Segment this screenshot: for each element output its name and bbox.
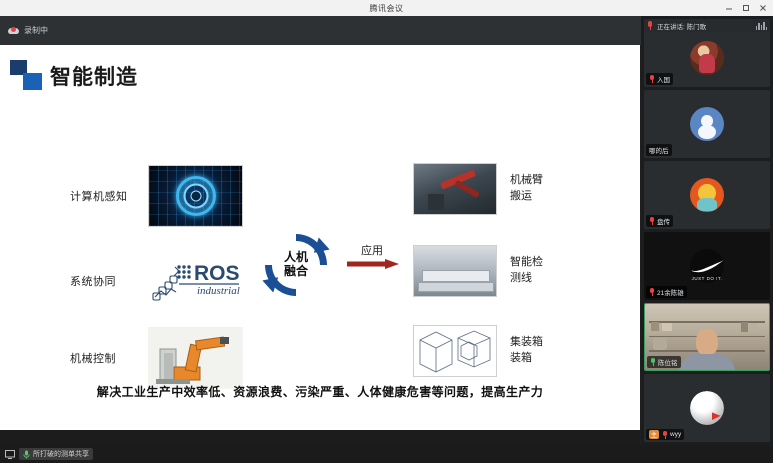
- monitor-icon[interactable]: [4, 449, 15, 460]
- right-row-3: 集装箱 装箱: [413, 325, 543, 377]
- participant-tile-1[interactable]: 正在讲话: 陈门歌 入国: [644, 19, 770, 87]
- mic-muted-icon: [649, 288, 655, 296]
- slide-title: 智能制造: [50, 61, 138, 91]
- video-feed-person: [696, 329, 718, 355]
- container-packing-diagram-image: [413, 325, 497, 377]
- participant-tile-5[interactable]: 陈位铭: [644, 303, 770, 371]
- recording-indicator[interactable]: 录制中: [8, 25, 48, 36]
- sun-character-avatar: [690, 178, 724, 212]
- speaking-mic-icon: [647, 21, 654, 30]
- right-label-1: 机械臂 搬运: [510, 173, 543, 205]
- presentation-slide: 智能制造 计算机感知 机械臂 搬运: [0, 45, 640, 430]
- participant-tile-4[interactable]: JUST DO IT. 21余陈雄: [644, 232, 770, 300]
- participant-name-chip-6: 主 wyy: [646, 429, 684, 440]
- mic-muted-icon: [649, 75, 655, 83]
- window-title: 腾讯会议: [370, 3, 404, 14]
- robot-arm-svg: [148, 327, 241, 387]
- right-row-2: 智能检 测线: [413, 245, 543, 297]
- screen-share-status[interactable]: 所打破的测单共享: [19, 448, 93, 460]
- right-label-3: 集装箱 装箱: [510, 335, 543, 367]
- maximize-button[interactable]: [737, 0, 754, 16]
- left-row-3: 机械控制: [70, 327, 243, 389]
- participant-name-1: 入国: [657, 74, 670, 84]
- shared-screen-stage[interactable]: 智能制造 计算机感知 机械臂 搬运: [0, 45, 640, 440]
- participant-name-6: wyy: [670, 431, 681, 438]
- snowman-avatar: [690, 107, 724, 141]
- mic-muted-icon: [649, 217, 655, 225]
- nike-swoosh-icon: [690, 260, 724, 273]
- svg-text:ROS: ROS: [194, 262, 240, 285]
- minimize-button[interactable]: [720, 0, 737, 16]
- close-icon: [759, 4, 767, 12]
- ros-industrial-logo-image: ROS industrial: [148, 250, 243, 312]
- right-row-1: 机械臂 搬运: [413, 163, 543, 215]
- golf-ball-avatar: [690, 391, 724, 425]
- right-label-2: 智能检 测线: [510, 255, 543, 287]
- active-speaker-header: 正在讲话: 陈门歌: [644, 19, 770, 32]
- computer-vision-eye-image: [148, 165, 243, 227]
- left-row-2: 系统协同 ROS industrial: [70, 250, 243, 312]
- tencent-meeting-window: 腾讯会议 录制中: [0, 0, 773, 463]
- recording-label: 录制中: [24, 25, 48, 36]
- close-button[interactable]: [754, 0, 771, 16]
- participant-rail[interactable]: 正在讲话: 陈门歌 入国 哪的后: [641, 16, 773, 445]
- screen-share-status-text: 所打破的测单共享: [33, 449, 89, 459]
- stage-bottom-strip: [0, 430, 640, 445]
- participant-name-2: 哪的后: [649, 145, 669, 155]
- robot-arm-transport-image: [413, 163, 497, 215]
- apply-arrow-group: 应用: [347, 242, 407, 274]
- left-label-3: 机械控制: [70, 350, 148, 366]
- participant-name-3: 盘传: [657, 216, 670, 226]
- slide-statement: 解决工业生产中效率低、资源浪费、污染严重、人体健康危害等问题，提高生产力: [0, 383, 640, 400]
- nike-caption: JUST DO IT.: [692, 276, 723, 281]
- human-machine-fusion-cycle: 人机 融合: [258, 227, 334, 303]
- portrait-avatar: [690, 41, 724, 75]
- mic-muted-icon: [662, 431, 668, 439]
- microphone-icon: [23, 450, 30, 459]
- participant-name-chip-5: 陈位铭: [647, 356, 681, 368]
- smart-inspection-line-image: [413, 245, 497, 297]
- left-label-1: 计算机感知: [70, 188, 148, 204]
- maximize-icon: [742, 4, 750, 12]
- participant-name-chip-2: 哪的后: [646, 144, 672, 156]
- ros-logo-svg: ROS industrial: [149, 251, 243, 311]
- minimize-icon: [725, 4, 733, 12]
- audio-wave-icon: [756, 22, 768, 30]
- mic-active-icon: [650, 358, 656, 366]
- cycle-center-text: 人机 融合: [258, 227, 334, 303]
- industrial-robot-arm-image: [148, 327, 243, 389]
- participant-name-chip-4: 21余陈雄: [646, 286, 687, 298]
- window-controls: [720, 0, 771, 16]
- blue-squares-logo-icon: [10, 60, 44, 92]
- left-label-2: 系统协同: [70, 273, 148, 289]
- participant-tile-2[interactable]: 哪的后: [644, 90, 770, 158]
- red-arrow-icon: [347, 259, 399, 269]
- left-row-1: 计算机感知: [70, 165, 243, 227]
- svg-text:industrial: industrial: [197, 285, 240, 297]
- participant-tile-6[interactable]: 主 wyy: [644, 374, 770, 442]
- window-titlebar: 腾讯会议: [0, 0, 773, 16]
- participant-name-5: 陈位铭: [658, 357, 678, 367]
- apply-label: 应用: [349, 242, 395, 258]
- windows-taskbar[interactable]: 所打破的测单共享: [0, 445, 773, 463]
- participant-name-chip-1: 入国: [646, 73, 673, 85]
- cloud-record-icon: [8, 26, 19, 35]
- host-badge: 主: [649, 430, 659, 439]
- slide-title-row: 智能制造: [10, 60, 138, 92]
- active-speaker-label: 正在讲话: 陈门歌: [657, 21, 706, 31]
- participant-tile-3[interactable]: 盘传: [644, 161, 770, 229]
- participant-name-4: 21余陈雄: [657, 287, 684, 297]
- participant-name-chip-3: 盘传: [646, 215, 673, 227]
- container-diagram-svg: [414, 326, 496, 376]
